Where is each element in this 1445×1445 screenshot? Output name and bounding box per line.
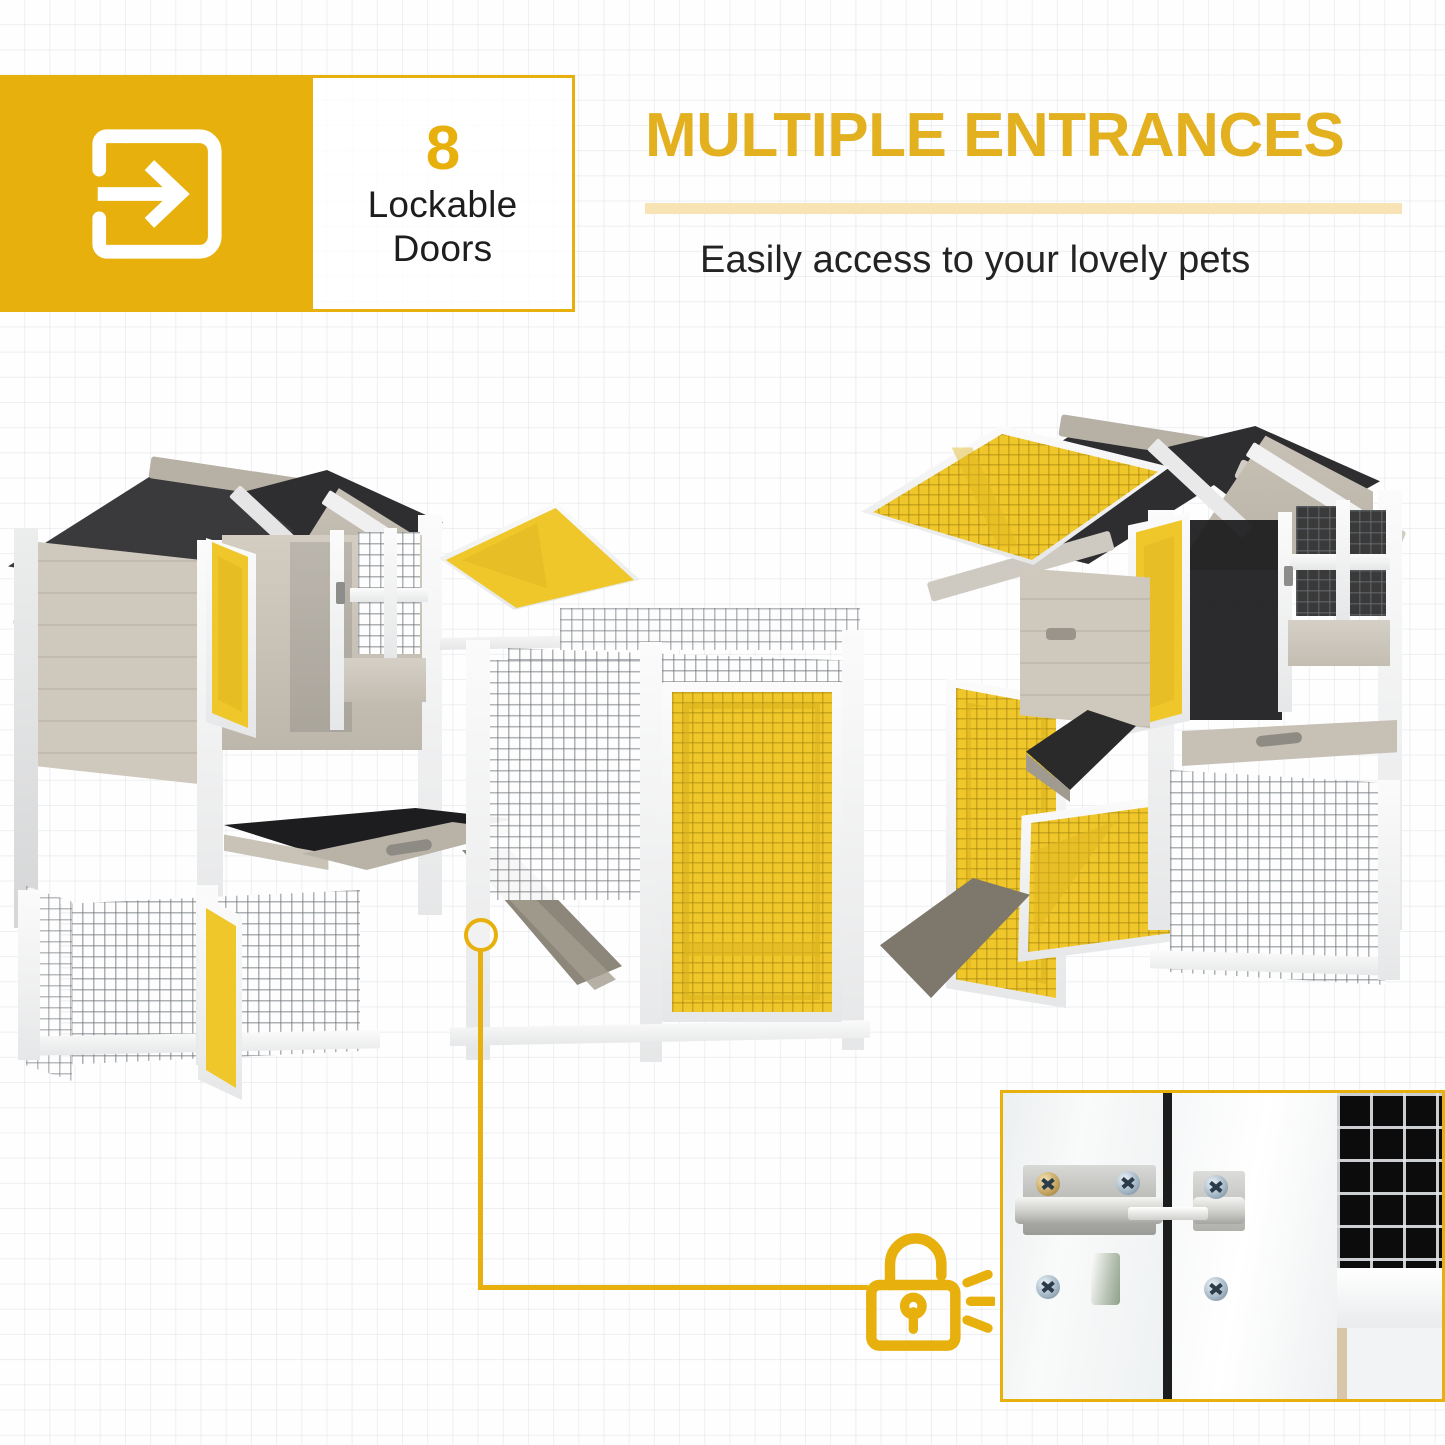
right-interior-handle — [1046, 628, 1076, 640]
right-hutch-latch — [1284, 566, 1293, 586]
left-run-left-leg — [18, 890, 40, 1060]
latch-closeup-photo — [1000, 1090, 1445, 1402]
run-mid-post — [640, 642, 662, 1062]
right-upper-mesh-window-2 — [1348, 510, 1386, 558]
right-window-mullion-v — [1336, 500, 1350, 622]
left-top-door-inner-panel — [218, 556, 242, 712]
screw-top-right — [1116, 1171, 1140, 1195]
right-hutch-inner-door-frame — [1278, 512, 1292, 712]
inset-wire-mesh-panel — [1337, 1093, 1445, 1268]
screw-bottom-left — [1036, 1275, 1060, 1299]
run-right-post — [842, 630, 864, 1050]
rabbit-hutch-product-photo — [0, 330, 1445, 1130]
inset-wood-edge — [1337, 1328, 1347, 1402]
right-interior-back-wall — [1020, 568, 1150, 728]
left-latch-hardware — [336, 582, 345, 604]
right-run-right-leg — [1378, 780, 1400, 980]
inset-white-rail — [1337, 1268, 1445, 1328]
badge-count-panel: 8 Lockable Doors — [313, 75, 575, 312]
badge-count: 8 — [426, 120, 459, 179]
inset-right-door-surface — [1172, 1093, 1337, 1399]
latch-location-marker — [464, 918, 498, 952]
inset-left-door-surface — [1003, 1093, 1163, 1399]
screw-top-left — [1036, 1172, 1060, 1196]
left-rear-post — [14, 528, 38, 928]
left-side-wall — [22, 530, 207, 785]
slide-bolt-knob — [1091, 1253, 1120, 1305]
callout-line-horizontal — [478, 1285, 868, 1290]
inset-door-gap — [1163, 1093, 1172, 1399]
callout-line-vertical — [478, 950, 483, 1290]
left-inner-door-frame — [330, 530, 344, 730]
right-upper-mesh-window — [1296, 506, 1336, 556]
left-run-yellow-door — [206, 908, 236, 1088]
center-door-kick-rail — [684, 942, 820, 956]
page-title: MULTIPLE ENTRANCES — [645, 103, 1415, 168]
left-window-mullion-v — [384, 528, 397, 660]
run-mesh-front-left — [486, 660, 656, 900]
badge-label-line2: Doors — [393, 227, 493, 271]
enter-door-arrow-icon — [81, 118, 233, 270]
run-rear-mesh-upper — [560, 608, 860, 650]
right-lower-plank — [1288, 620, 1390, 666]
title-divider — [645, 203, 1402, 214]
badge-label-line1: Lockable — [368, 183, 518, 227]
inset-bottom-panel — [1347, 1328, 1445, 1402]
infographic-page: 8 Lockable Doors MULTIPLE ENTRANCES Easi… — [0, 0, 1445, 1445]
slide-bolt-rod — [1128, 1207, 1208, 1220]
screw-keeper-top — [1204, 1175, 1228, 1199]
left-lower-plank — [344, 658, 426, 702]
right-hutch-interior — [1174, 520, 1282, 720]
open-padlock-icon — [855, 1222, 995, 1362]
right-upper-mesh-window-4 — [1348, 570, 1386, 616]
page-subtitle: Easily access to your lovely pets — [700, 238, 1420, 284]
badge-icon-panel — [0, 75, 313, 312]
right-upper-mesh-window-3 — [1296, 568, 1336, 616]
screw-keeper-bottom — [1204, 1277, 1228, 1301]
